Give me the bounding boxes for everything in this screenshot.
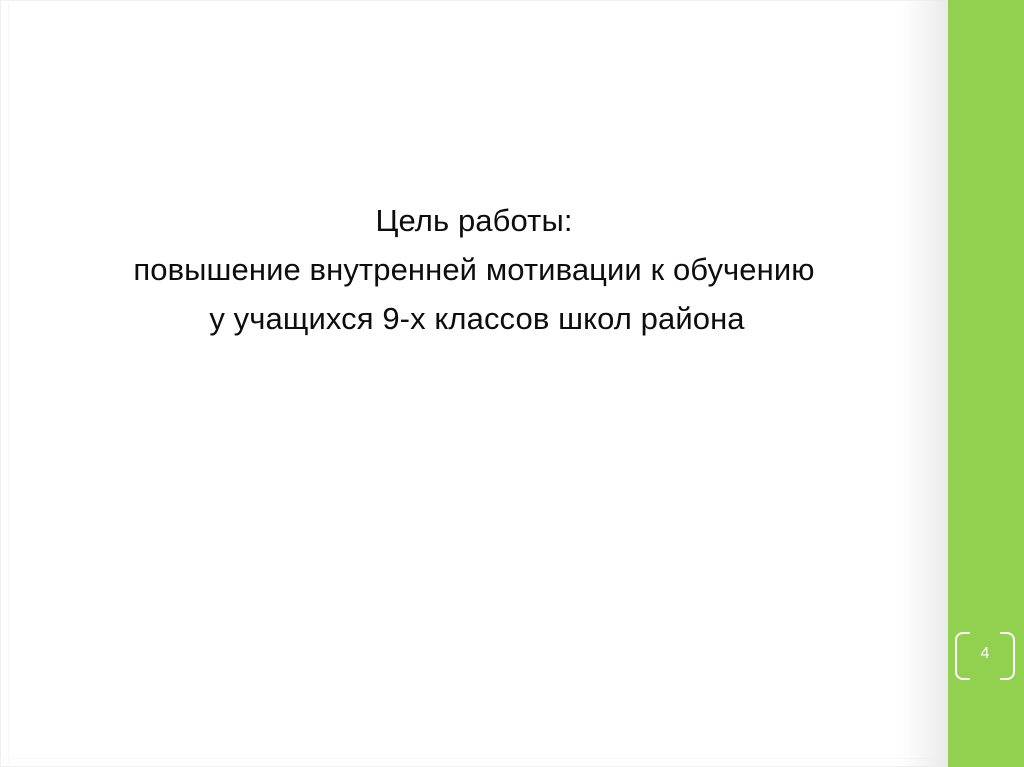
slide-edge-left — [0, 0, 1, 767]
body-line-2: повышение внутренней мотивации к обучени… — [0, 245, 948, 294]
gutter-shading — [900, 0, 948, 767]
body-line-3: у учащихся 9-х классов школ района — [0, 294, 948, 343]
slide-edge-left-inner — [8, 0, 9, 767]
body-line-1: Цель работы: — [0, 196, 948, 245]
page-number-value: 4 — [952, 628, 1018, 680]
page-number: 4 — [952, 628, 1018, 680]
slide-body-text: Цель работы: повышение внутренней мотива… — [0, 196, 948, 343]
slide-edge-bottom-inner — [0, 758, 948, 759]
presentation-slide: Цель работы: повышение внутренней мотива… — [0, 0, 1024, 767]
slide-edge-top — [0, 0, 1024, 1]
